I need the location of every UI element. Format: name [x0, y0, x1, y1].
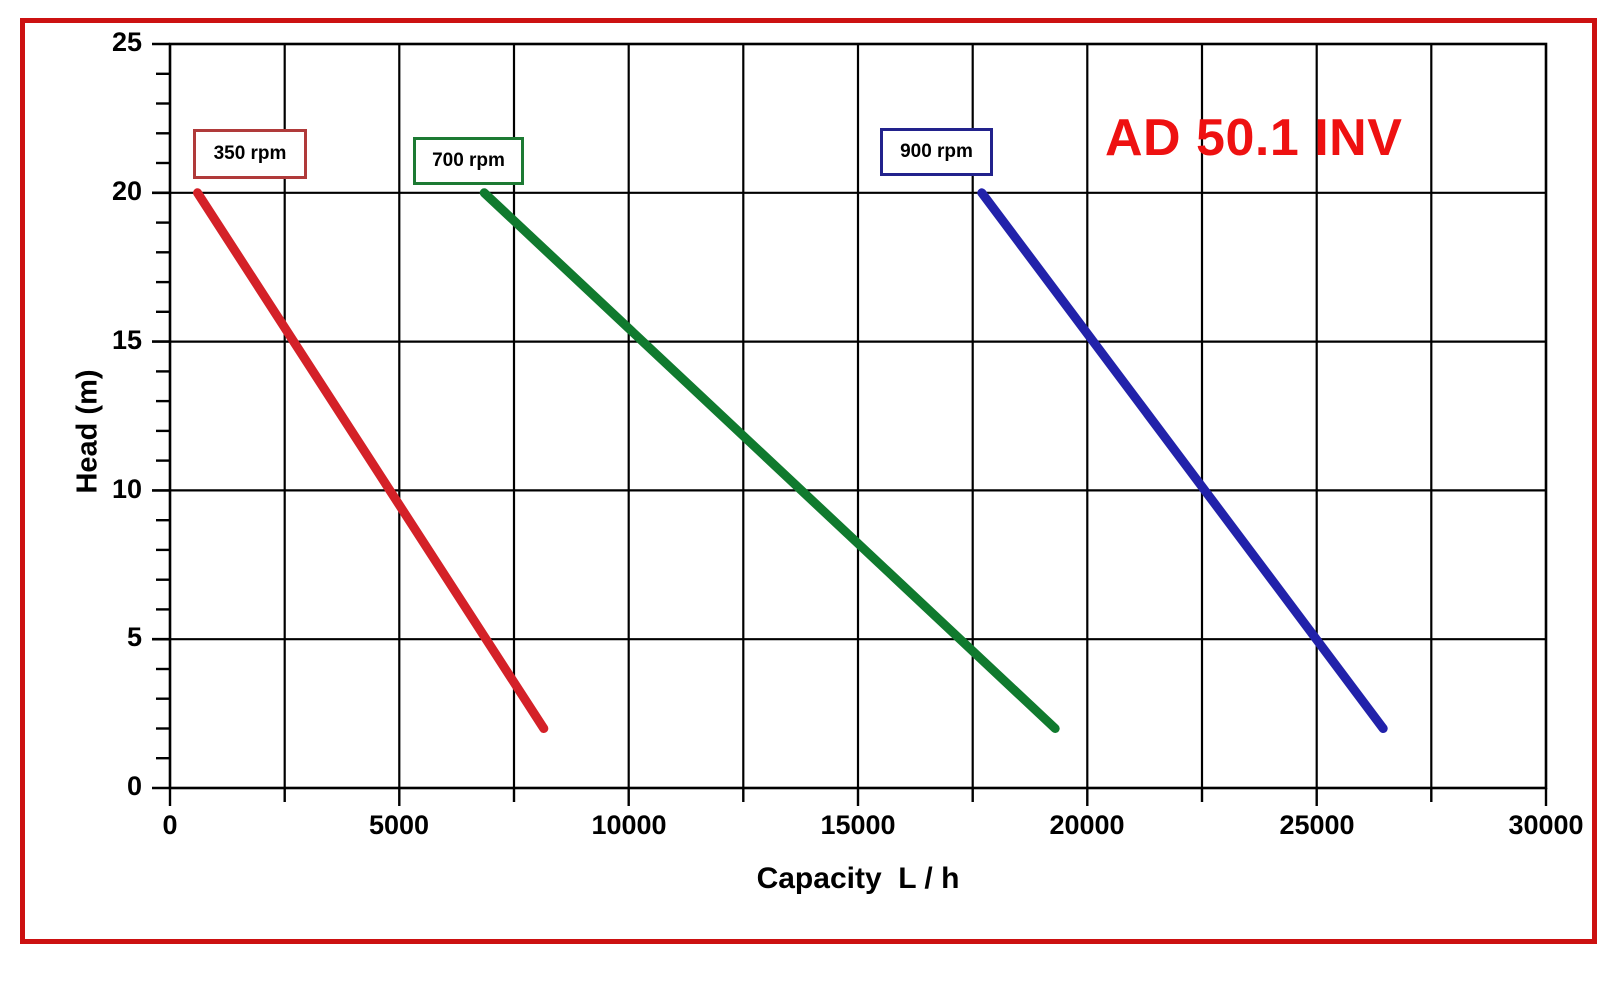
chart-title: AD 50.1 INV: [1105, 108, 1402, 168]
x-tick-label-5000: 5000: [309, 810, 489, 841]
pump-performance-chart: 25 20 15 10 5 0 0 5000 10000 15000 20000…: [0, 0, 1617, 1000]
y-axis-title: Head (m): [72, 332, 105, 532]
x-tick-label-15000: 15000: [768, 810, 948, 841]
x-tick-label-10000: 10000: [539, 810, 719, 841]
y-tick-label-5: 5: [82, 622, 142, 653]
x-tick-label-30000: 30000: [1456, 810, 1617, 841]
x-tick-label-20000: 20000: [997, 810, 1177, 841]
y-tick-label-0: 0: [82, 771, 142, 802]
x-axis-title: Capacity L / h: [170, 862, 1546, 896]
chart-page: 25 20 15 10 5 0 0 5000 10000 15000 20000…: [0, 0, 1617, 1000]
y-tick-label-25: 25: [82, 27, 142, 58]
x-axis-ticks: [170, 788, 1546, 806]
y-tick-label-20: 20: [82, 176, 142, 207]
y-axis-major-ticks: [152, 44, 170, 788]
x-tick-label-0: 0: [80, 810, 260, 841]
y-axis-minor-ticks: [156, 74, 170, 758]
series-label-900-rpm: 900 rpm: [880, 128, 993, 176]
series-label-700-rpm: 700 rpm: [413, 137, 524, 185]
series-label-350-rpm: 350 rpm: [193, 129, 307, 179]
x-tick-label-25000: 25000: [1227, 810, 1407, 841]
